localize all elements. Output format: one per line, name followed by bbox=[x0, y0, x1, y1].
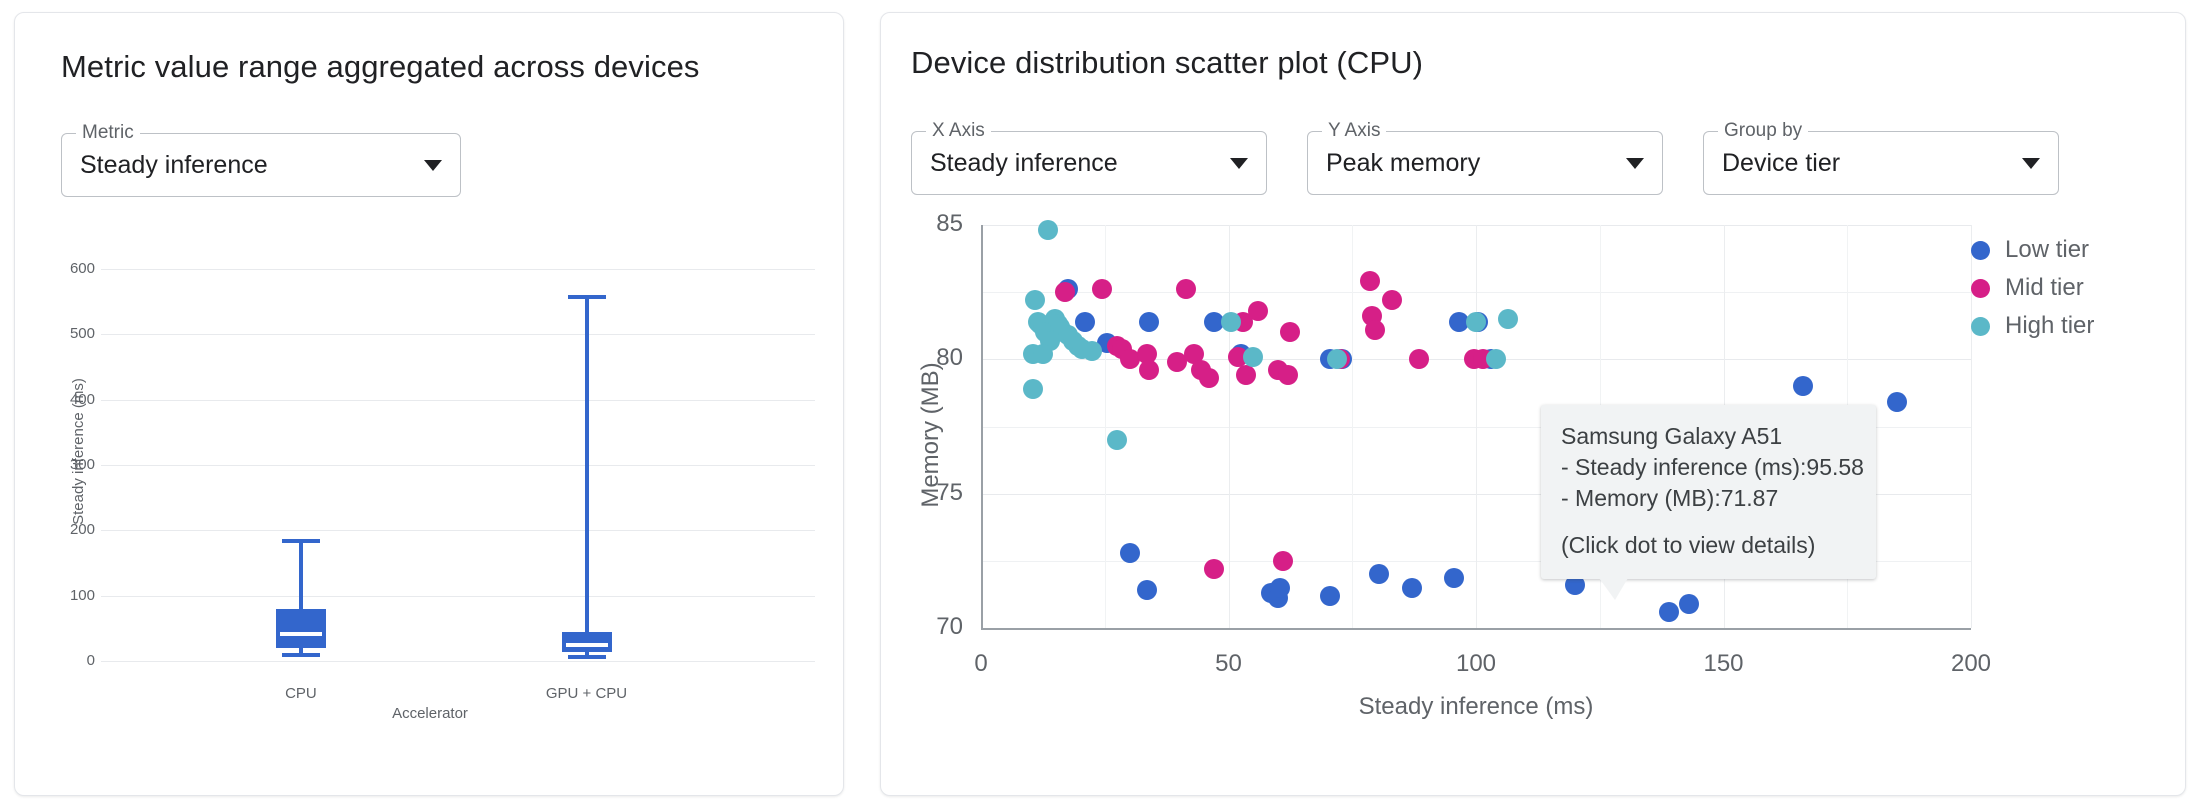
scatter-point[interactable] bbox=[1236, 365, 1256, 385]
scatter-point[interactable] bbox=[1280, 322, 1300, 342]
legend-item[interactable]: High tier bbox=[1971, 307, 2094, 345]
legend-item-label: Low tier bbox=[2005, 236, 2089, 264]
box-y-tick-label: 100 bbox=[61, 587, 95, 604]
scatter-point[interactable] bbox=[1498, 309, 1518, 329]
scatter-point[interactable] bbox=[1320, 586, 1340, 606]
scatter-x-tick-label: 100 bbox=[1436, 650, 1516, 678]
scatter-x-tick-label: 0 bbox=[941, 650, 1021, 678]
scatter-x-axis-title: Steady inference (ms) bbox=[981, 693, 1971, 721]
legend-item[interactable]: Mid tier bbox=[1971, 269, 2094, 307]
scatter-x-tick-label: 50 bbox=[1189, 650, 1269, 678]
box-gridline bbox=[101, 465, 815, 466]
dashboard-root: Metric value range aggregated across dev… bbox=[0, 0, 2200, 808]
scatter-point[interactable] bbox=[1444, 568, 1464, 588]
scatter-vgridline bbox=[1229, 225, 1230, 628]
scatter-point[interactable] bbox=[1033, 344, 1053, 364]
box-median-line bbox=[280, 632, 322, 636]
box-gridline bbox=[101, 596, 815, 597]
tooltip-device-name: Samsung Galaxy A51 bbox=[1561, 421, 1856, 452]
box-category-label: GPU + CPU bbox=[517, 685, 657, 702]
legend-swatch-1 bbox=[1971, 279, 1990, 298]
scatter-point[interactable] bbox=[1887, 392, 1907, 412]
tooltip-memory-line: - Memory (MB):71.87 bbox=[1561, 483, 1856, 514]
scatter-point[interactable] bbox=[1486, 349, 1506, 369]
box-whisker-cap-upper bbox=[568, 295, 606, 299]
scatter-point[interactable] bbox=[1327, 349, 1347, 369]
scatter-x-axis-line bbox=[981, 628, 1971, 630]
box-category-label: CPU bbox=[231, 685, 371, 702]
box-whisker-cap-lower bbox=[282, 653, 320, 657]
scatter-point[interactable] bbox=[1025, 290, 1045, 310]
scatter-plot-card: Device distribution scatter plot (CPU) X… bbox=[880, 12, 2186, 796]
tooltip-metric-line: - Steady inference (ms):95.58 bbox=[1561, 452, 1856, 483]
box-iqr-rect bbox=[276, 609, 326, 648]
scatter-point[interactable] bbox=[1369, 564, 1389, 584]
tooltip-spacer bbox=[1561, 514, 1856, 530]
scatter-point[interactable] bbox=[1243, 347, 1263, 367]
box-plot-y-axis-title: Steady inference (ms) bbox=[70, 378, 87, 525]
box-gridline bbox=[101, 269, 815, 270]
scatter-point[interactable] bbox=[1092, 279, 1112, 299]
tooltip-hint: (Click dot to view details) bbox=[1561, 530, 1856, 561]
scatter-y-axis-line bbox=[981, 225, 983, 628]
scatter-point[interactable] bbox=[1120, 543, 1140, 563]
box-whisker-upper bbox=[585, 297, 589, 631]
scatter-point[interactable] bbox=[1270, 578, 1290, 598]
scatter-point[interactable] bbox=[1055, 282, 1075, 302]
legend-item[interactable]: Low tier bbox=[1971, 231, 2094, 269]
box-gridline bbox=[101, 334, 815, 335]
box-whisker-cap-lower bbox=[568, 655, 606, 659]
legend-swatch-2 bbox=[1971, 317, 1990, 336]
scatter-chart: 70758085050100150200 bbox=[881, 13, 2151, 783]
box-y-tick-label: 500 bbox=[61, 325, 95, 342]
scatter-point[interactable] bbox=[1679, 594, 1699, 614]
scatter-point[interactable] bbox=[1278, 365, 1298, 385]
box-gridline bbox=[101, 661, 815, 662]
scatter-tooltip: Samsung Galaxy A51 - Steady inference (m… bbox=[1541, 405, 1876, 579]
scatter-y-tick-label: 85 bbox=[901, 210, 963, 238]
box-y-tick-label: 0 bbox=[61, 652, 95, 669]
legend-item-label: High tier bbox=[2005, 312, 2094, 340]
box-plot-x-axis-title: Accelerator bbox=[15, 705, 845, 722]
box-plot-chart: 0100200300400500600CPUGPU + CPU bbox=[15, 13, 845, 783]
scatter-x-tick-label: 150 bbox=[1684, 650, 1764, 678]
box-whisker-upper bbox=[299, 541, 303, 608]
metric-range-card: Metric value range aggregated across dev… bbox=[14, 12, 844, 796]
box-whisker-cap-upper bbox=[282, 539, 320, 543]
box-gridline bbox=[101, 400, 815, 401]
scatter-point[interactable] bbox=[1360, 271, 1380, 291]
scatter-point[interactable] bbox=[1659, 602, 1679, 622]
scatter-point[interactable] bbox=[1402, 578, 1422, 598]
scatter-x-tick-label: 200 bbox=[1931, 650, 2011, 678]
scatter-point[interactable] bbox=[1221, 312, 1241, 332]
scatter-vgridline-minor bbox=[1352, 225, 1353, 628]
scatter-point[interactable] bbox=[1793, 376, 1813, 396]
legend-swatch-0 bbox=[1971, 241, 1990, 260]
scatter-point[interactable] bbox=[1204, 559, 1224, 579]
scatter-point[interactable] bbox=[1176, 279, 1196, 299]
scatter-point[interactable] bbox=[1038, 220, 1058, 240]
scatter-y-axis-title: Memory (MB) bbox=[917, 285, 945, 585]
scatter-point[interactable] bbox=[1139, 360, 1159, 380]
scatter-point[interactable] bbox=[1365, 320, 1385, 340]
scatter-point[interactable] bbox=[1409, 349, 1429, 369]
box-gridline bbox=[101, 530, 815, 531]
scatter-point[interactable] bbox=[1466, 312, 1486, 332]
scatter-point[interactable] bbox=[1023, 379, 1043, 399]
legend-item-label: Mid tier bbox=[2005, 274, 2084, 302]
scatter-vgridline bbox=[1476, 225, 1477, 628]
scatter-legend: Low tierMid tierHigh tier bbox=[1971, 231, 2094, 345]
scatter-point[interactable] bbox=[1082, 341, 1102, 361]
scatter-point[interactable] bbox=[1273, 551, 1293, 571]
tooltip-tail-icon bbox=[1599, 578, 1628, 600]
scatter-point[interactable] bbox=[1382, 290, 1402, 310]
scatter-point[interactable] bbox=[1137, 580, 1157, 600]
box-median-line bbox=[566, 643, 608, 647]
scatter-point[interactable] bbox=[1248, 301, 1268, 321]
scatter-point[interactable] bbox=[1107, 430, 1127, 450]
scatter-point[interactable] bbox=[1075, 312, 1095, 332]
scatter-point[interactable] bbox=[1199, 368, 1219, 388]
scatter-y-tick-label: 70 bbox=[901, 613, 963, 641]
box-y-tick-label: 600 bbox=[61, 260, 95, 277]
scatter-point[interactable] bbox=[1139, 312, 1159, 332]
